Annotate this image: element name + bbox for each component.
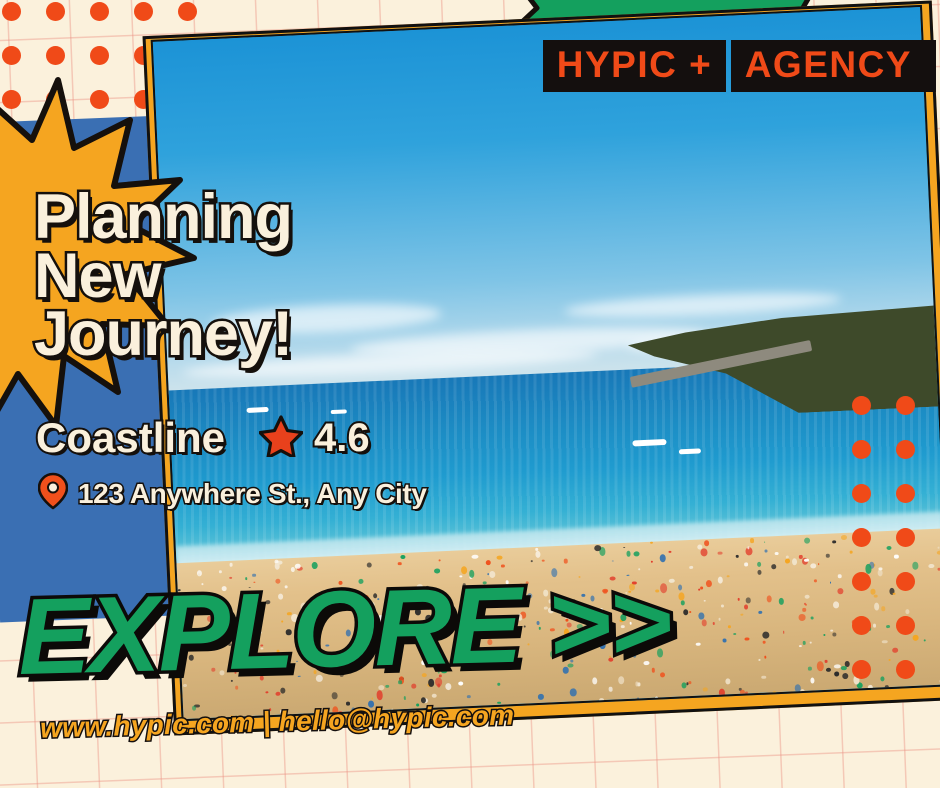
beach-detail <box>882 640 888 644</box>
beach-detail <box>400 555 405 559</box>
page-title: Planning New Journey! <box>34 188 454 364</box>
beach-detail <box>681 601 685 606</box>
beach-detail <box>764 549 767 553</box>
beach-detail <box>810 677 815 683</box>
address-text: 123 Anywhere St., Any City <box>78 478 427 510</box>
beach-detail <box>744 604 748 610</box>
beach-detail <box>713 622 716 624</box>
beach-detail <box>467 695 471 698</box>
beach-detail <box>785 558 790 563</box>
beach-detail <box>704 600 706 602</box>
rating-group: 4.6 <box>259 415 370 462</box>
beach-detail <box>745 637 750 641</box>
beach-detail <box>736 555 739 558</box>
beach-detail <box>878 567 882 570</box>
decorative-dot <box>90 46 109 65</box>
beach-detail <box>893 648 899 653</box>
beach-detail <box>725 678 730 684</box>
beach-detail <box>531 561 533 563</box>
beach-detail <box>637 697 639 700</box>
star-icon <box>259 415 303 462</box>
subtitle-rating-row: Coastline 4.6 <box>36 414 370 462</box>
beach-detail <box>371 697 373 699</box>
beach-detail <box>701 619 707 626</box>
beach-detail <box>703 687 707 691</box>
beach-detail <box>538 694 545 700</box>
beach-detail <box>880 677 885 682</box>
beach-detail <box>750 539 754 544</box>
beach-detail <box>799 645 802 647</box>
beach-detail <box>792 558 798 565</box>
beach-detail <box>923 639 925 641</box>
beach-detail <box>823 634 825 636</box>
decorative-dot <box>2 2 21 21</box>
beach-detail <box>471 554 478 559</box>
beach-detail <box>668 551 671 553</box>
decorative-dot <box>852 440 871 459</box>
decorative-dot <box>896 484 915 503</box>
beach-detail <box>832 540 837 544</box>
decorative-dot <box>852 396 871 415</box>
beach-detail <box>813 579 817 582</box>
beach-detail <box>570 688 577 697</box>
beach-detail <box>689 681 692 685</box>
beach-detail <box>700 548 707 556</box>
beach-detail <box>265 691 268 693</box>
beach-detail <box>885 685 888 689</box>
beach-detail <box>762 676 767 679</box>
decorative-dot <box>178 2 197 21</box>
beach-detail <box>718 577 724 584</box>
beach-detail <box>635 682 638 687</box>
decorative-dot <box>852 528 871 547</box>
decorative-dot <box>90 2 109 21</box>
beach-detail <box>763 640 766 644</box>
beach-detail <box>804 537 810 543</box>
beach-detail <box>689 566 693 569</box>
beach-detail <box>650 542 653 544</box>
decorative-dot <box>46 2 65 21</box>
beach-detail <box>905 609 909 614</box>
beach-detail <box>889 659 891 661</box>
beach-detail <box>542 559 545 561</box>
beach-detail <box>798 614 805 621</box>
beach-detail <box>758 611 763 615</box>
beach-detail <box>870 589 876 595</box>
badge-line-2: AGENCY <box>731 40 936 92</box>
beach-detail <box>626 551 631 557</box>
beach-detail <box>403 696 406 700</box>
beach-detail <box>882 606 886 611</box>
beach-detail <box>804 559 809 562</box>
beach-detail <box>689 611 691 613</box>
beach-detail <box>398 563 402 565</box>
beach-detail <box>764 656 766 659</box>
beach-detail <box>874 594 878 597</box>
beach-detail <box>679 592 685 600</box>
beach-detail <box>808 667 812 671</box>
beach-detail <box>757 570 762 575</box>
beach-detail <box>704 540 710 546</box>
decorative-dot <box>134 2 153 21</box>
beach-detail <box>767 595 772 602</box>
beach-detail <box>838 574 842 579</box>
decorative-dot <box>852 572 871 591</box>
beach-detail <box>623 547 625 548</box>
beach-detail <box>757 561 761 566</box>
beach-detail <box>727 625 731 628</box>
beach-detail <box>745 598 751 604</box>
beach-detail <box>609 687 613 692</box>
decorative-dot <box>896 572 915 591</box>
beach-detail <box>873 624 876 628</box>
address-row: 123 Anywhere St., Any City <box>38 472 427 515</box>
rating-value: 4.6 <box>314 416 370 461</box>
boat <box>679 448 701 454</box>
decorative-dot <box>46 46 65 65</box>
beach-detail <box>802 641 806 646</box>
beach-detail <box>718 689 724 697</box>
beach-detail <box>229 563 233 567</box>
beach-detail <box>678 585 682 591</box>
beach-detail <box>783 631 785 633</box>
beach-detail <box>810 563 816 569</box>
beach-detail <box>718 618 720 621</box>
beach-detail <box>886 625 890 629</box>
beach-detail <box>826 668 831 672</box>
beach-detail <box>699 612 705 619</box>
beach-detail <box>778 598 784 606</box>
beach-detail <box>841 535 847 540</box>
beach-detail <box>535 550 540 557</box>
agency-badge: HYPIC + AGENCY <box>543 40 922 92</box>
beach-detail <box>841 666 846 671</box>
decorative-dot <box>2 46 21 65</box>
beach-detail <box>878 570 883 577</box>
beach-detail <box>718 552 723 555</box>
decorative-dot <box>852 660 871 679</box>
beach-detail <box>838 588 844 595</box>
beach-detail <box>874 602 880 610</box>
beach-detail <box>849 550 852 554</box>
beach-detail <box>802 608 806 612</box>
decorative-dot <box>896 616 915 635</box>
beach-detail <box>497 555 503 559</box>
beach-detail <box>912 635 918 641</box>
map-pin-icon <box>38 472 68 515</box>
beach-detail <box>734 633 737 635</box>
beach-detail <box>886 546 891 551</box>
beach-detail <box>834 671 839 676</box>
decorative-dot <box>896 440 915 459</box>
beach-detail <box>810 642 812 644</box>
beach-detail <box>912 562 919 570</box>
beach-detail <box>669 579 675 583</box>
beach-detail <box>774 552 779 556</box>
decorative-dot <box>852 616 871 635</box>
beach-detail <box>832 633 837 637</box>
beach-detail <box>830 582 832 584</box>
beach-detail <box>706 580 712 588</box>
beach-detail <box>700 586 703 589</box>
poster-canvas: Planning New Journey! Coastline 4.6 123 … <box>0 0 940 788</box>
location-subtitle: Coastline <box>36 414 225 462</box>
beach-detail <box>722 638 726 642</box>
badge-line-1: HYPIC + <box>543 40 726 92</box>
beach-detail <box>376 691 383 701</box>
headline-line-3: Journey! <box>34 305 454 364</box>
beach-detail <box>740 613 743 615</box>
beach-detail <box>745 692 747 694</box>
headline-line-1: Planning <box>34 188 454 247</box>
beach-detail <box>738 598 741 601</box>
boat <box>246 406 268 412</box>
beach-detail <box>726 575 729 577</box>
beach-detail <box>804 602 806 604</box>
beach-detail <box>633 552 639 557</box>
beach-detail <box>818 563 820 565</box>
beach-detail <box>332 692 338 700</box>
beach-detail <box>672 626 677 632</box>
beach-detail <box>696 642 701 646</box>
beach-detail <box>687 683 689 685</box>
beach-detail <box>794 684 801 692</box>
decorative-dot <box>896 396 915 415</box>
beach-detail <box>894 554 899 559</box>
beach-detail <box>681 682 686 688</box>
headline-line-2: New <box>34 247 454 306</box>
beach-detail <box>763 631 770 638</box>
beach-detail <box>771 564 776 570</box>
beach-detail <box>830 629 833 632</box>
beach-detail <box>721 604 724 607</box>
beach-detail <box>868 685 873 691</box>
beach-detail <box>929 564 934 568</box>
beach-detail <box>825 659 828 663</box>
decorative-dot <box>896 528 915 547</box>
explore-cta[interactable]: EXPLORE >> <box>17 567 672 691</box>
beach-detail <box>431 694 436 698</box>
beach-detail <box>893 592 896 594</box>
beach-detail <box>817 661 824 671</box>
decorative-dot <box>896 660 915 679</box>
beach-detail <box>833 602 839 609</box>
beach-detail <box>740 690 745 695</box>
decorative-dot <box>852 484 871 503</box>
beach-detail <box>758 659 760 660</box>
beach-detail <box>438 559 441 561</box>
beach-detail <box>826 554 830 558</box>
beach-detail <box>683 609 688 615</box>
beach-detail <box>842 673 848 679</box>
beach-detail <box>744 562 748 567</box>
beach-detail <box>811 617 814 620</box>
beach-detail <box>834 665 841 669</box>
beach-detail <box>804 594 809 598</box>
beach-detail <box>764 541 766 543</box>
beach-detail <box>599 698 604 702</box>
